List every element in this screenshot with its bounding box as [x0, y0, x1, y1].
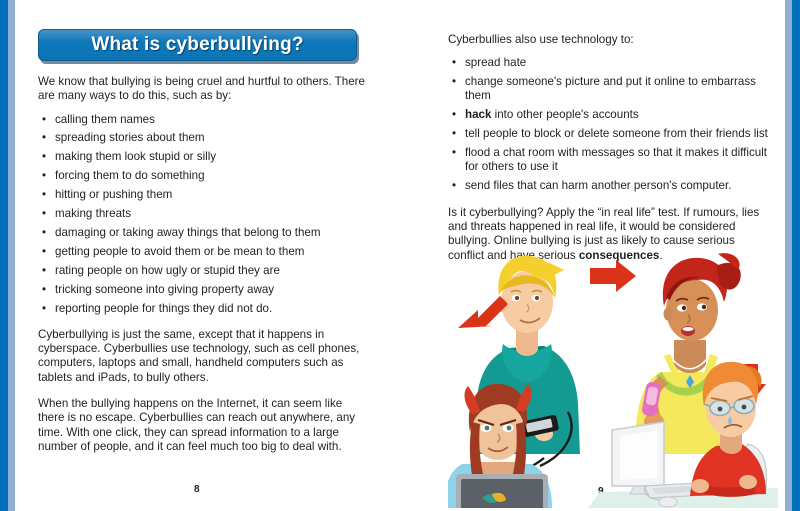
list-item: •send files that can harm another person… — [448, 179, 770, 193]
bullet-dot-icon: • — [42, 169, 46, 183]
bullet-dot-icon: • — [42, 113, 46, 127]
list-item: •calling them names — [38, 113, 370, 127]
page-title: What is cyberbullying? — [91, 34, 303, 56]
bullet-dot-icon: • — [452, 127, 456, 141]
list-item-label: tricking someone into giving property aw… — [55, 283, 274, 296]
list-item-label: hitting or pushing them — [55, 188, 172, 201]
list-item: •damaging or taking away things that bel… — [38, 226, 370, 240]
emphasis-term: hack — [465, 108, 491, 121]
list-item: •change someone's picture and put it onl… — [448, 75, 770, 104]
red-arrow-right — [590, 260, 636, 292]
bullet-dot-icon: • — [42, 245, 46, 259]
bullet-dot-icon: • — [42, 131, 46, 145]
laptop — [456, 474, 548, 508]
list-item-label: getting people to avoid them or be mean … — [55, 245, 304, 258]
page-number-left: 8 — [194, 484, 200, 495]
cyberbullying-illustration — [448, 236, 778, 508]
left-intro-paragraph: We know that bullying is being cruel and… — [38, 75, 370, 104]
list-item-label: rating people on how ugly or stupid they… — [55, 264, 280, 277]
bullet-dot-icon: • — [452, 108, 456, 122]
desktop-monitor — [612, 422, 664, 494]
bullet-dot-icon: • — [42, 188, 46, 202]
list-item: •forcing them to do something — [38, 169, 370, 183]
list-item-label: tell people to block or delete someone f… — [465, 127, 768, 140]
list-item-label: making threats — [55, 207, 131, 220]
list-item: •tell people to block or delete someone … — [448, 127, 770, 141]
right-edge-light-strip — [785, 0, 792, 511]
list-item: •tricking someone into giving property a… — [38, 283, 370, 297]
list-item: •getting people to avoid them or be mean… — [38, 245, 370, 259]
bullet-dot-icon: • — [42, 226, 46, 240]
list-item: •making them look stupid or silly — [38, 150, 370, 164]
bullet-dot-icon: • — [452, 146, 456, 160]
left-paragraph-2: Cyberbullying is just the same, except t… — [38, 328, 370, 385]
section-heading-banner: What is cyberbullying? — [38, 29, 357, 61]
list-item: •flood a chat room with messages so that… — [448, 146, 770, 175]
right-intro-paragraph: Cyberbullies also use technology to: — [448, 33, 770, 47]
bullet-dot-icon: • — [42, 264, 46, 278]
right-edge-dark-strip — [792, 0, 800, 511]
list-item-label: damaging or taking away things that belo… — [55, 226, 321, 239]
list-item: •reporting people for things they did no… — [38, 302, 370, 316]
list-item: •spread hate — [448, 56, 770, 70]
list-item-label: flood a chat room with messages so that … — [465, 146, 767, 173]
bullet-dot-icon: • — [42, 283, 46, 297]
bullet-dot-icon: • — [452, 75, 456, 89]
list-item: •spreading stories about them — [38, 131, 370, 145]
technology-misuse-list: •spread hate•change someone's picture an… — [448, 56, 770, 193]
list-item: •hitting or pushing them — [38, 188, 370, 202]
booklet-spread: What is cyberbullying? We know that bull… — [0, 0, 800, 511]
list-item: •rating people on how ugly or stupid the… — [38, 264, 370, 278]
bullet-dot-icon: • — [42, 150, 46, 164]
list-item-label: reporting people for things they did not… — [55, 302, 272, 315]
list-item-label: spread hate — [465, 56, 526, 69]
left-column-body: We know that bullying is being cruel and… — [38, 75, 370, 466]
list-item-label: send files that can harm another person'… — [465, 179, 731, 192]
list-item-label: hack into other people's accounts — [465, 108, 639, 121]
bullet-dot-icon: • — [42, 302, 46, 316]
left-paragraph-3: When the bullying happens on the Interne… — [38, 397, 370, 454]
list-item-label: forcing them to do something — [55, 169, 205, 182]
bullying-methods-list: •calling them names•spreading stories ab… — [38, 113, 370, 316]
bullet-dot-icon: • — [452, 179, 456, 193]
list-item-label: spreading stories about them — [55, 131, 205, 144]
list-item-label: calling them names — [55, 113, 155, 126]
list-item-label: making them look stupid or silly — [55, 150, 216, 163]
bullet-dot-icon: • — [42, 207, 46, 221]
bullet-dot-icon: • — [452, 56, 456, 70]
left-edge-dark-strip — [0, 0, 8, 511]
list-item-label: change someone's picture and put it onli… — [465, 75, 756, 102]
list-item: •hack into other people's accounts — [448, 108, 770, 122]
left-edge-light-strip — [8, 0, 15, 511]
red-arrow-up-left — [458, 296, 508, 328]
list-item: •making threats — [38, 207, 370, 221]
